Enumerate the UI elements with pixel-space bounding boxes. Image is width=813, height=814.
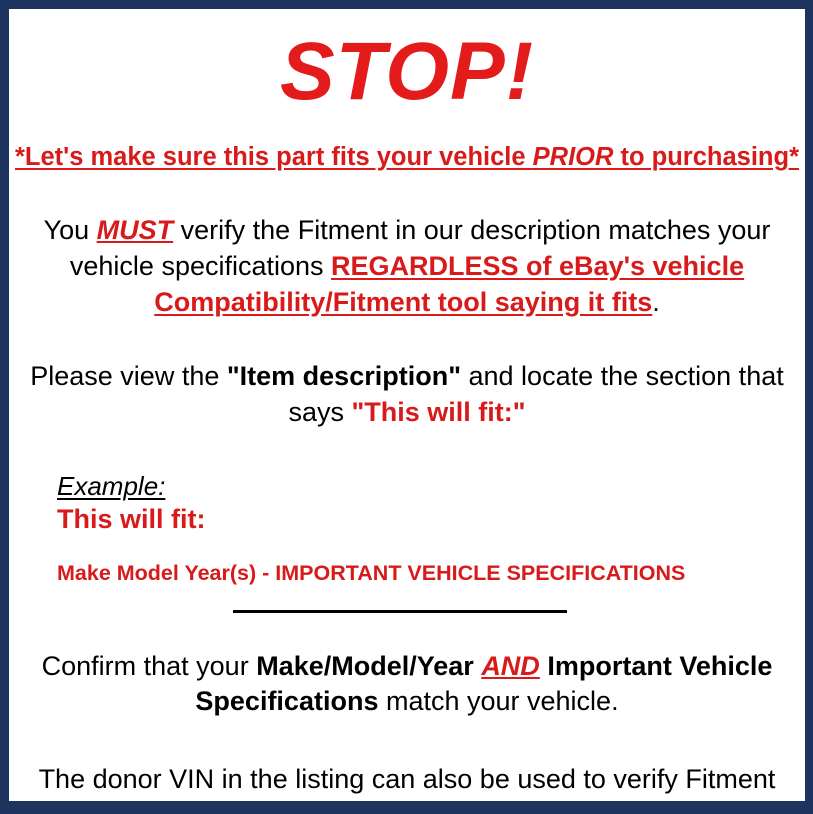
paragraph-donor-vin: The donor VIN in the listing can also be… <box>9 762 805 814</box>
divider-wrapper <box>9 610 805 613</box>
paragraph-must-verify: You MUST verify the Fitment in our descr… <box>9 213 805 321</box>
make-model-year-bold: Make/Model/Year <box>256 651 474 681</box>
example-label: Example: <box>57 471 805 502</box>
paragraph-confirm-match: Confirm that your Make/Model/Year AND Im… <box>9 649 805 721</box>
view-seg1: Please view the <box>30 361 227 391</box>
paragraph-item-description: Please view the "Item description" and l… <box>9 359 805 431</box>
tagline-part2: to purchasing* <box>613 143 799 171</box>
must-emphasis: MUST <box>97 215 174 245</box>
this-will-fit-quote: "This will fit:" <box>351 397 525 427</box>
fitment-tagline: *Let's make sure this part fits your veh… <box>9 143 805 171</box>
example-block: Example: This will fit: Make Model Year(… <box>9 471 805 586</box>
tagline-part1: *Let's make sure this part fits your veh… <box>15 143 533 171</box>
fitment-notice-frame: STOP! *Let's make sure this part fits yo… <box>0 0 813 814</box>
tagline-emphasis-prior: PRIOR <box>533 143 614 171</box>
and-emphasis: AND <box>481 651 540 681</box>
must-seg5: . <box>652 287 660 317</box>
confirm-seg1: Confirm that your <box>42 651 257 681</box>
stop-headline: STOP! <box>9 21 805 113</box>
must-seg1: You <box>44 215 97 245</box>
example-spec-line: Make Model Year(s) - IMPORTANT VEHICLE S… <box>57 561 805 586</box>
confirm-seg5: match your vehicle. <box>378 686 618 716</box>
item-description-label: "Item description" <box>227 361 461 391</box>
example-fit-header: This will fit: <box>57 504 805 535</box>
notice-content-area: STOP! *Let's make sure this part fits yo… <box>9 21 805 813</box>
horizontal-divider <box>233 610 567 613</box>
